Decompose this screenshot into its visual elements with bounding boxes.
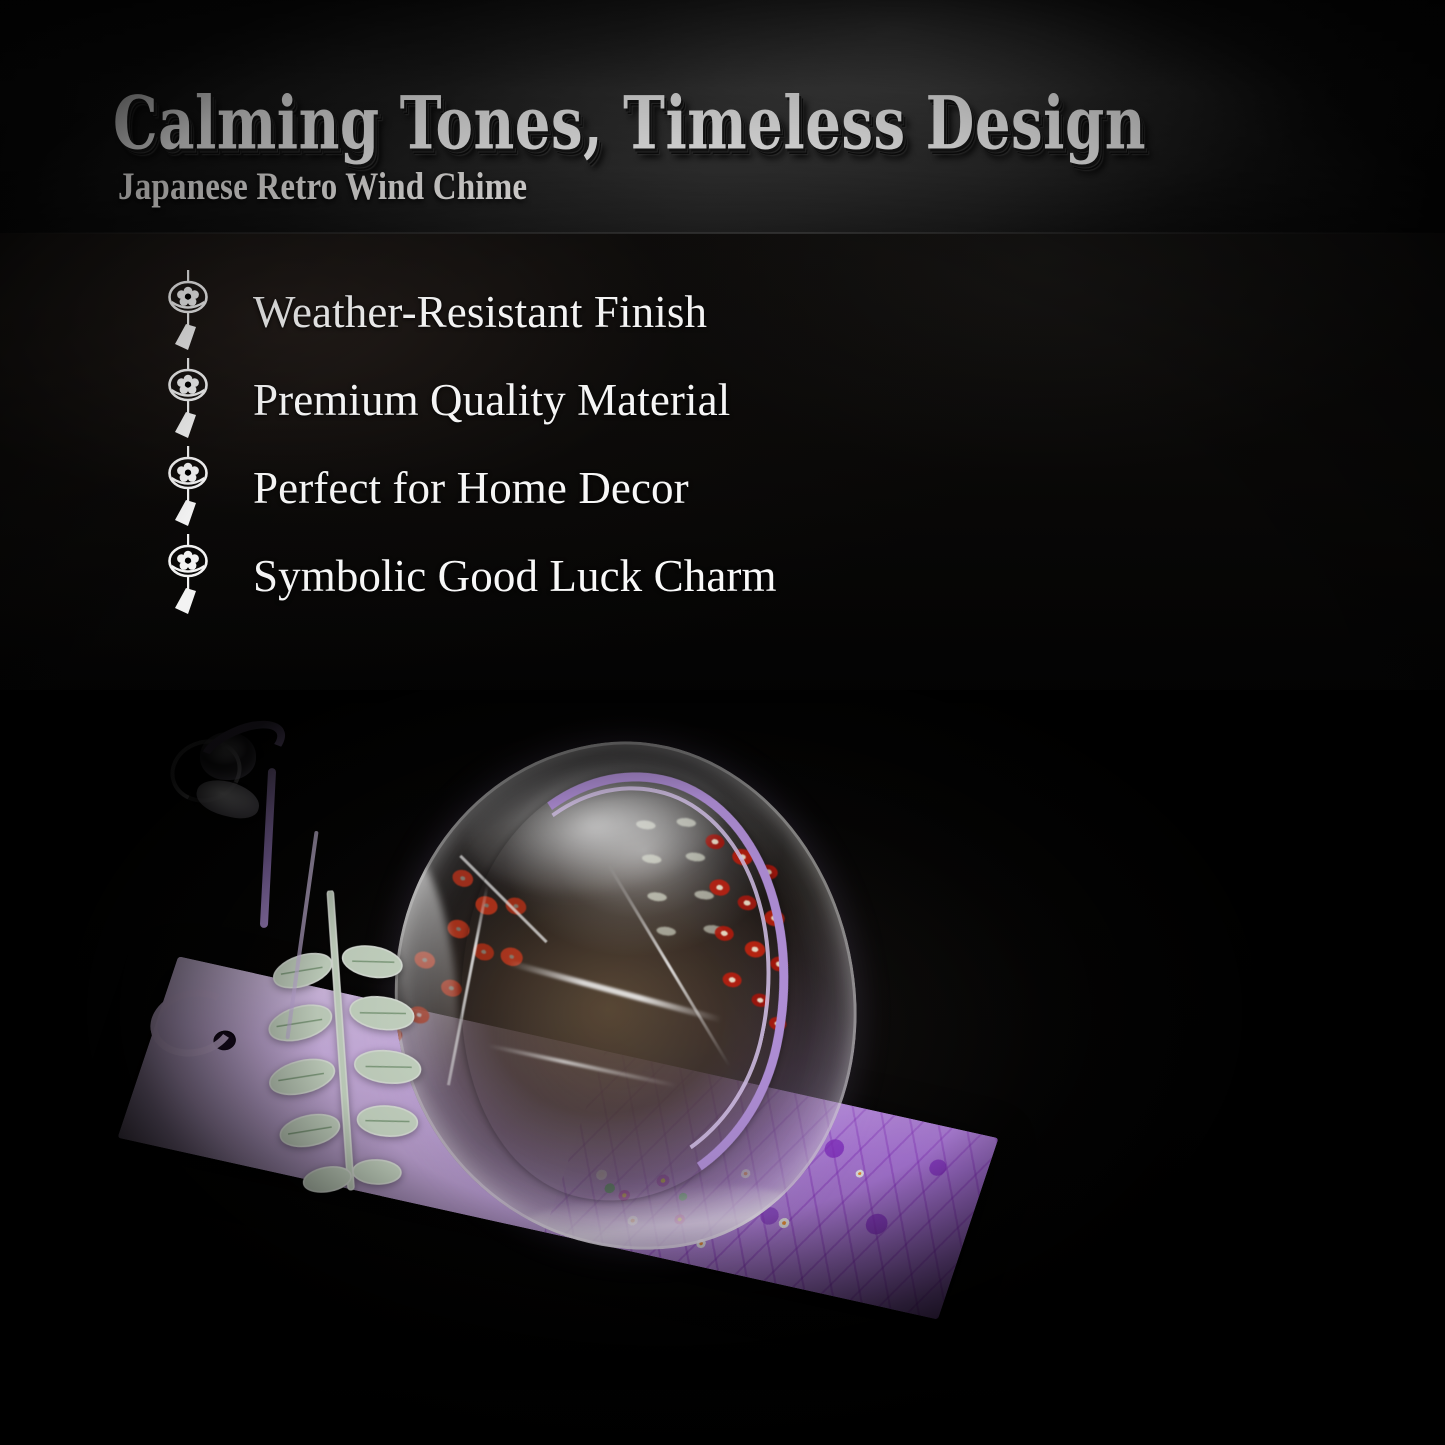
list-item: Weather-Resistant Finish bbox=[0, 268, 1000, 356]
header-divider bbox=[0, 232, 1445, 234]
product-photo bbox=[0, 690, 1445, 1390]
leaf-branch-strip bbox=[237, 884, 448, 1206]
feature-label: Symbolic Good Luck Charm bbox=[253, 554, 777, 599]
wind-chime-icon bbox=[163, 446, 213, 532]
wind-chime-icon bbox=[163, 270, 213, 356]
wind-chime-icon bbox=[163, 534, 213, 620]
feature-label: Perfect for Home Decor bbox=[253, 466, 689, 511]
page-title: Calming Tones, Timeless Design bbox=[113, 86, 1146, 163]
wind-chime-icon bbox=[163, 358, 213, 444]
list-item: Premium Quality Material bbox=[0, 356, 1000, 444]
page-subtitle: Japanese Retro Wind Chime bbox=[118, 166, 527, 210]
feature-label: Weather-Resistant Finish bbox=[253, 290, 707, 335]
feature-label: Premium Quality Material bbox=[253, 378, 730, 423]
feature-list: Weather-Resistant Finish bbox=[0, 268, 1000, 620]
list-item: Perfect for Home Decor bbox=[0, 444, 1000, 532]
glass-clapper-petal bbox=[193, 775, 263, 823]
list-item: Symbolic Good Luck Charm bbox=[0, 532, 1000, 620]
product-feature-banner: Calming Tones, Timeless Design Japanese … bbox=[0, 0, 1445, 1445]
